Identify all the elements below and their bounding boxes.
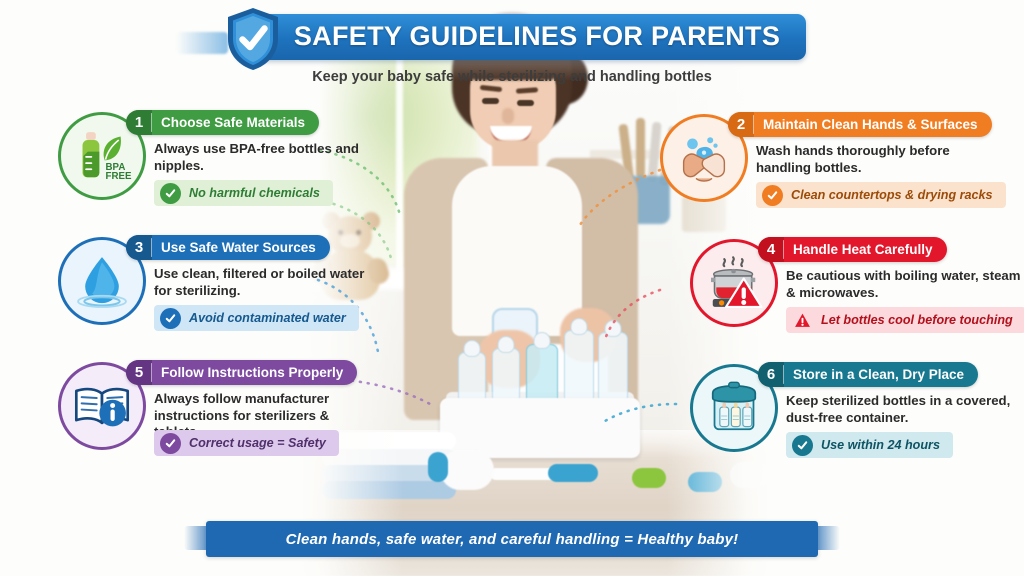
card-4-number: 4 <box>758 237 784 262</box>
card-1-title-pill: 1 Choose Safe Materials <box>126 110 319 135</box>
card-1-note-text: No harmful chemicals <box>189 186 320 200</box>
card-1-note: No harmful chemicals <box>154 180 333 206</box>
svg-text:FREE: FREE <box>106 171 132 182</box>
bottle-brush-grip <box>548 464 598 482</box>
card-5-note: Correct usage = Safety <box>154 430 339 456</box>
bottle-brush-tip <box>428 452 448 482</box>
card-4-title: Handle Heat Carefully <box>784 242 947 258</box>
pacifier <box>632 468 666 488</box>
card-1-title: Choose Safe Materials <box>152 115 319 131</box>
page-subtitle: Keep your baby safe while sterilizing an… <box>0 69 1024 85</box>
card-3-title-pill: 3 Use Safe Water Sources <box>126 235 330 260</box>
card-3-title: Use Safe Water Sources <box>152 240 330 256</box>
infographic-canvas: SAFETY GUIDELINES FOR PARENTS Keep your … <box>0 0 1024 576</box>
card-6-note-text: Use within 24 hours <box>821 438 940 452</box>
card-3-number: 3 <box>126 235 152 260</box>
card-4-description: Be cautious with boiling water, steam & … <box>786 268 1024 301</box>
card-1-description: Always use BPA-free bottles and nipples. <box>154 141 376 174</box>
shield-check-icon <box>224 6 282 72</box>
check-circle-icon <box>160 308 181 329</box>
water-drop-icon <box>71 250 133 312</box>
card-4-title-pill: 4 Handle Heat Carefully <box>758 237 947 262</box>
boiling-pot-warning-icon <box>703 252 765 314</box>
card-3-note-text: Avoid contaminated water <box>189 311 346 325</box>
storage-container-bottles-icon <box>703 377 765 439</box>
washing-hands-icon <box>673 127 735 189</box>
bpa-free-bottle-leaf-icon: BPA FREE <box>71 125 133 187</box>
card-4-note: Let bottles cool before touching <box>786 307 1024 333</box>
card-6-description: Keep sterilized bottles in a covered, du… <box>786 393 1022 426</box>
footer-banner: Clean hands, safe water, and careful han… <box>206 521 818 557</box>
check-circle-icon <box>160 183 181 204</box>
card-4-note-text: Let bottles cool before touching <box>821 313 1013 327</box>
card-3-description: Use clean, filtered or boiled water for … <box>154 266 376 299</box>
card-1-number: 1 <box>126 110 152 135</box>
card-2-description: Wash hands thoroughly before handling bo… <box>756 143 1006 176</box>
footer-text: Clean hands, safe water, and careful han… <box>206 521 818 557</box>
card-5-number: 5 <box>126 360 152 385</box>
baby-bottle <box>598 332 628 406</box>
card-6-number: 6 <box>758 362 784 387</box>
check-circle-icon <box>762 185 783 206</box>
card-5-note-text: Correct usage = Safety <box>189 436 326 450</box>
card-2-note: Clean countertops & drying racks <box>756 182 1006 208</box>
header: SAFETY GUIDELINES FOR PARENTS Keep your … <box>0 14 1024 85</box>
card-2-note-text: Clean countertops & drying racks <box>791 188 993 202</box>
card-5-title: Follow Instructions Properly <box>152 365 357 381</box>
bottle-brush-head <box>440 450 494 490</box>
baby-bottle <box>526 344 558 406</box>
card-5-title-pill: 5 Follow Instructions Properly <box>126 360 357 385</box>
check-circle-icon <box>792 435 813 456</box>
warning-triangle-icon <box>792 310 813 331</box>
check-circle-icon <box>160 433 181 454</box>
card-3-note: Avoid contaminated water <box>154 305 359 331</box>
open-book-info-icon <box>71 375 133 437</box>
baby-bottle <box>564 330 594 406</box>
card-2-title-pill: 2 Maintain Clean Hands & Surfaces <box>728 112 992 137</box>
pacifier <box>688 472 722 492</box>
header-brush-streak <box>176 32 228 54</box>
page-title: SAFETY GUIDELINES FOR PARENTS <box>236 14 806 60</box>
card-6-title-pill: 6 Store in a Clean, Dry Place <box>758 362 978 387</box>
card-6-note: Use within 24 hours <box>786 432 953 458</box>
drying-rack <box>440 398 640 458</box>
card-2-title: Maintain Clean Hands & Surfaces <box>754 117 992 133</box>
pacifier-case <box>730 462 770 488</box>
card-6-title: Store in a Clean, Dry Place <box>784 367 978 383</box>
card-2-number: 2 <box>728 112 754 137</box>
